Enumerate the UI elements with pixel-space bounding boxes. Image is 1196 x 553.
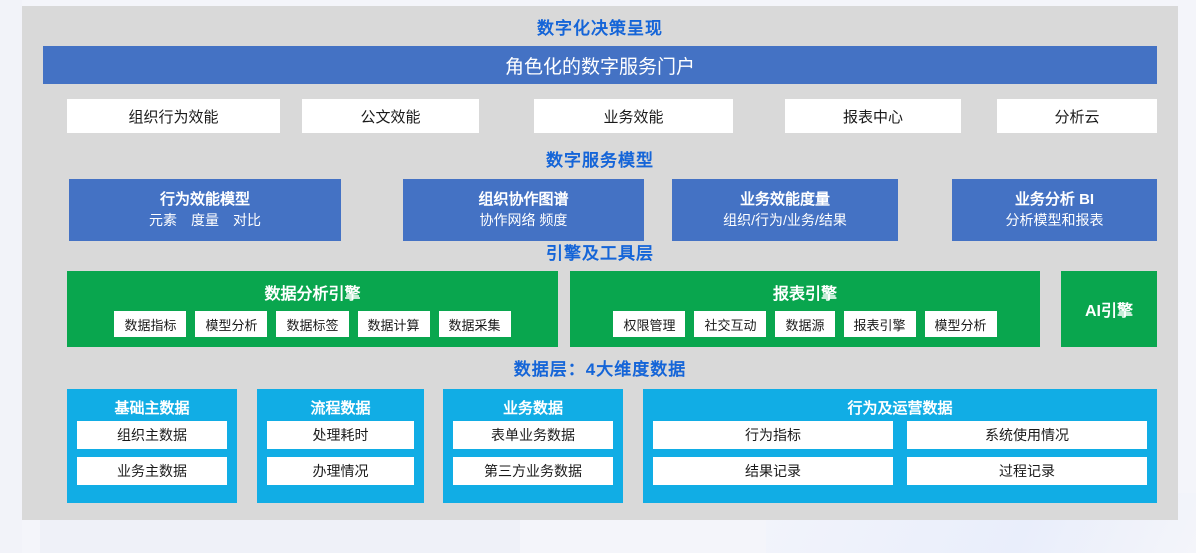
model-title: 业务效能度量 [740,190,830,210]
data-item-list: 组织主数据 业务主数据 [77,421,227,485]
model-subtitle: 组织/行为/业务/结果 [723,211,847,230]
section-title-service-model: 数字服务模型 [22,152,1178,169]
data-group-business-data[interactable]: 业务数据 表单业务数据 第三方业务数据 [443,389,623,503]
data-group-title: 流程数据 [257,397,424,418]
chip-data-indicator[interactable]: 数据指标 [114,311,186,337]
model-subtitle: 分析模型和报表 [1006,211,1104,230]
data-item-form-business[interactable]: 表单业务数据 [453,421,613,449]
engine-title: 数据分析引擎 [67,280,558,304]
data-item-system-usage[interactable]: 系统使用情况 [907,421,1147,449]
model-box-behavior-efficiency[interactable]: 行为效能模型 元素 度量 对比 [69,179,341,241]
tab-report-center[interactable]: 报表中心 [785,99,961,133]
tab-business-efficiency[interactable]: 业务效能 [534,99,733,133]
chip-data-computation[interactable]: 数据计算 [358,311,430,337]
chip-permission-management[interactable]: 权限管理 [613,311,685,337]
data-item-handling-status[interactable]: 办理情况 [267,457,414,485]
chip-data-label[interactable]: 数据标签 [276,311,348,337]
data-item-org-master[interactable]: 组织主数据 [77,421,227,449]
tab-document-efficiency[interactable]: 公文效能 [302,99,479,133]
engine-box-data-analysis[interactable]: 数据分析引擎 数据指标 模型分析 数据标签 数据计算 数据采集 [67,271,558,347]
chip-data-source[interactable]: 数据源 [775,311,834,337]
section-title-data-layer: 数据层：4大维度数据 [22,361,1178,378]
model-title: 行为效能模型 [160,190,250,210]
tab-analytics-cloud[interactable]: 分析云 [997,99,1157,133]
chip-model-analysis[interactable]: 模型分析 [925,311,997,337]
engine-title: 报表引擎 [570,280,1040,304]
data-item-business-master[interactable]: 业务主数据 [77,457,227,485]
data-layer-row: 基础主数据 组织主数据 业务主数据 流程数据 处理耗时 办理情况 业务数据 表单… [43,389,1157,503]
chip-model-analysis[interactable]: 模型分析 [195,311,267,337]
architecture-diagram-panel: 数字化决策呈现 角色化的数字服务门户 组织行为效能 公文效能 业务效能 报表中心… [22,6,1178,520]
chip-data-collection[interactable]: 数据采集 [439,311,511,337]
data-group-behavior-operation-data[interactable]: 行为及运营数据 行为指标 系统使用情况 结果记录 过程记录 [643,389,1157,503]
data-item-third-party-business[interactable]: 第三方业务数据 [453,457,613,485]
chip-social-interaction[interactable]: 社交互动 [694,311,766,337]
engine-box-ai[interactable]: AI引擎 [1061,271,1157,347]
background-wash-left [0,0,22,553]
tab-organization-behavior-efficiency[interactable]: 组织行为效能 [67,99,280,133]
model-title: 组织协作图谱 [478,190,568,210]
model-box-business-analytics-bi[interactable]: 业务分析 BI 分析模型和报表 [952,179,1157,241]
model-subtitle: 元素 度量 对比 [149,211,261,230]
model-subtitle: 协作网络 频度 [480,211,568,230]
section-title-engine-tools: 引擎及工具层 [22,245,1178,262]
engine-tools-row: 数据分析引擎 数据指标 模型分析 数据标签 数据计算 数据采集 报表引擎 权限管… [43,271,1157,347]
data-item-list: 行为指标 系统使用情况 结果记录 过程记录 [653,421,1147,485]
service-model-row: 行为效能模型 元素 度量 对比 组织协作图谱 协作网络 频度 业务效能度量 组织… [43,179,1157,241]
portal-tab-row: 组织行为效能 公文效能 业务效能 报表中心 分析云 [43,99,1157,133]
data-group-title: 行为及运营数据 [643,397,1157,418]
data-group-title: 业务数据 [443,397,623,418]
data-group-title: 基础主数据 [67,397,237,418]
chip-report-engine[interactable]: 报表引擎 [844,311,916,337]
engine-chip-row: 数据指标 模型分析 数据标签 数据计算 数据采集 [67,311,558,337]
section-title-presentation: 数字化决策呈现 [22,20,1178,37]
data-item-process-record[interactable]: 过程记录 [907,457,1147,485]
data-item-list: 表单业务数据 第三方业务数据 [453,421,613,485]
engine-box-report[interactable]: 报表引擎 权限管理 社交互动 数据源 报表引擎 模型分析 [570,271,1040,347]
data-group-master-data[interactable]: 基础主数据 组织主数据 业务主数据 [67,389,237,503]
model-box-collaboration-graph[interactable]: 组织协作图谱 协作网络 频度 [403,179,644,241]
data-group-process-data[interactable]: 流程数据 处理耗时 办理情况 [257,389,424,503]
engine-chip-row: 权限管理 社交互动 数据源 报表引擎 模型分析 [570,311,1040,337]
data-item-behavior-indicator[interactable]: 行为指标 [653,421,893,449]
model-box-business-efficiency-metrics[interactable]: 业务效能度量 组织/行为/业务/结果 [672,179,898,241]
data-item-result-record[interactable]: 结果记录 [653,457,893,485]
model-title: 业务分析 BI [1015,190,1094,210]
data-item-processing-time[interactable]: 处理耗时 [267,421,414,449]
portal-bar[interactable]: 角色化的数字服务门户 [43,46,1157,84]
data-item-list: 处理耗时 办理情况 [267,421,414,485]
